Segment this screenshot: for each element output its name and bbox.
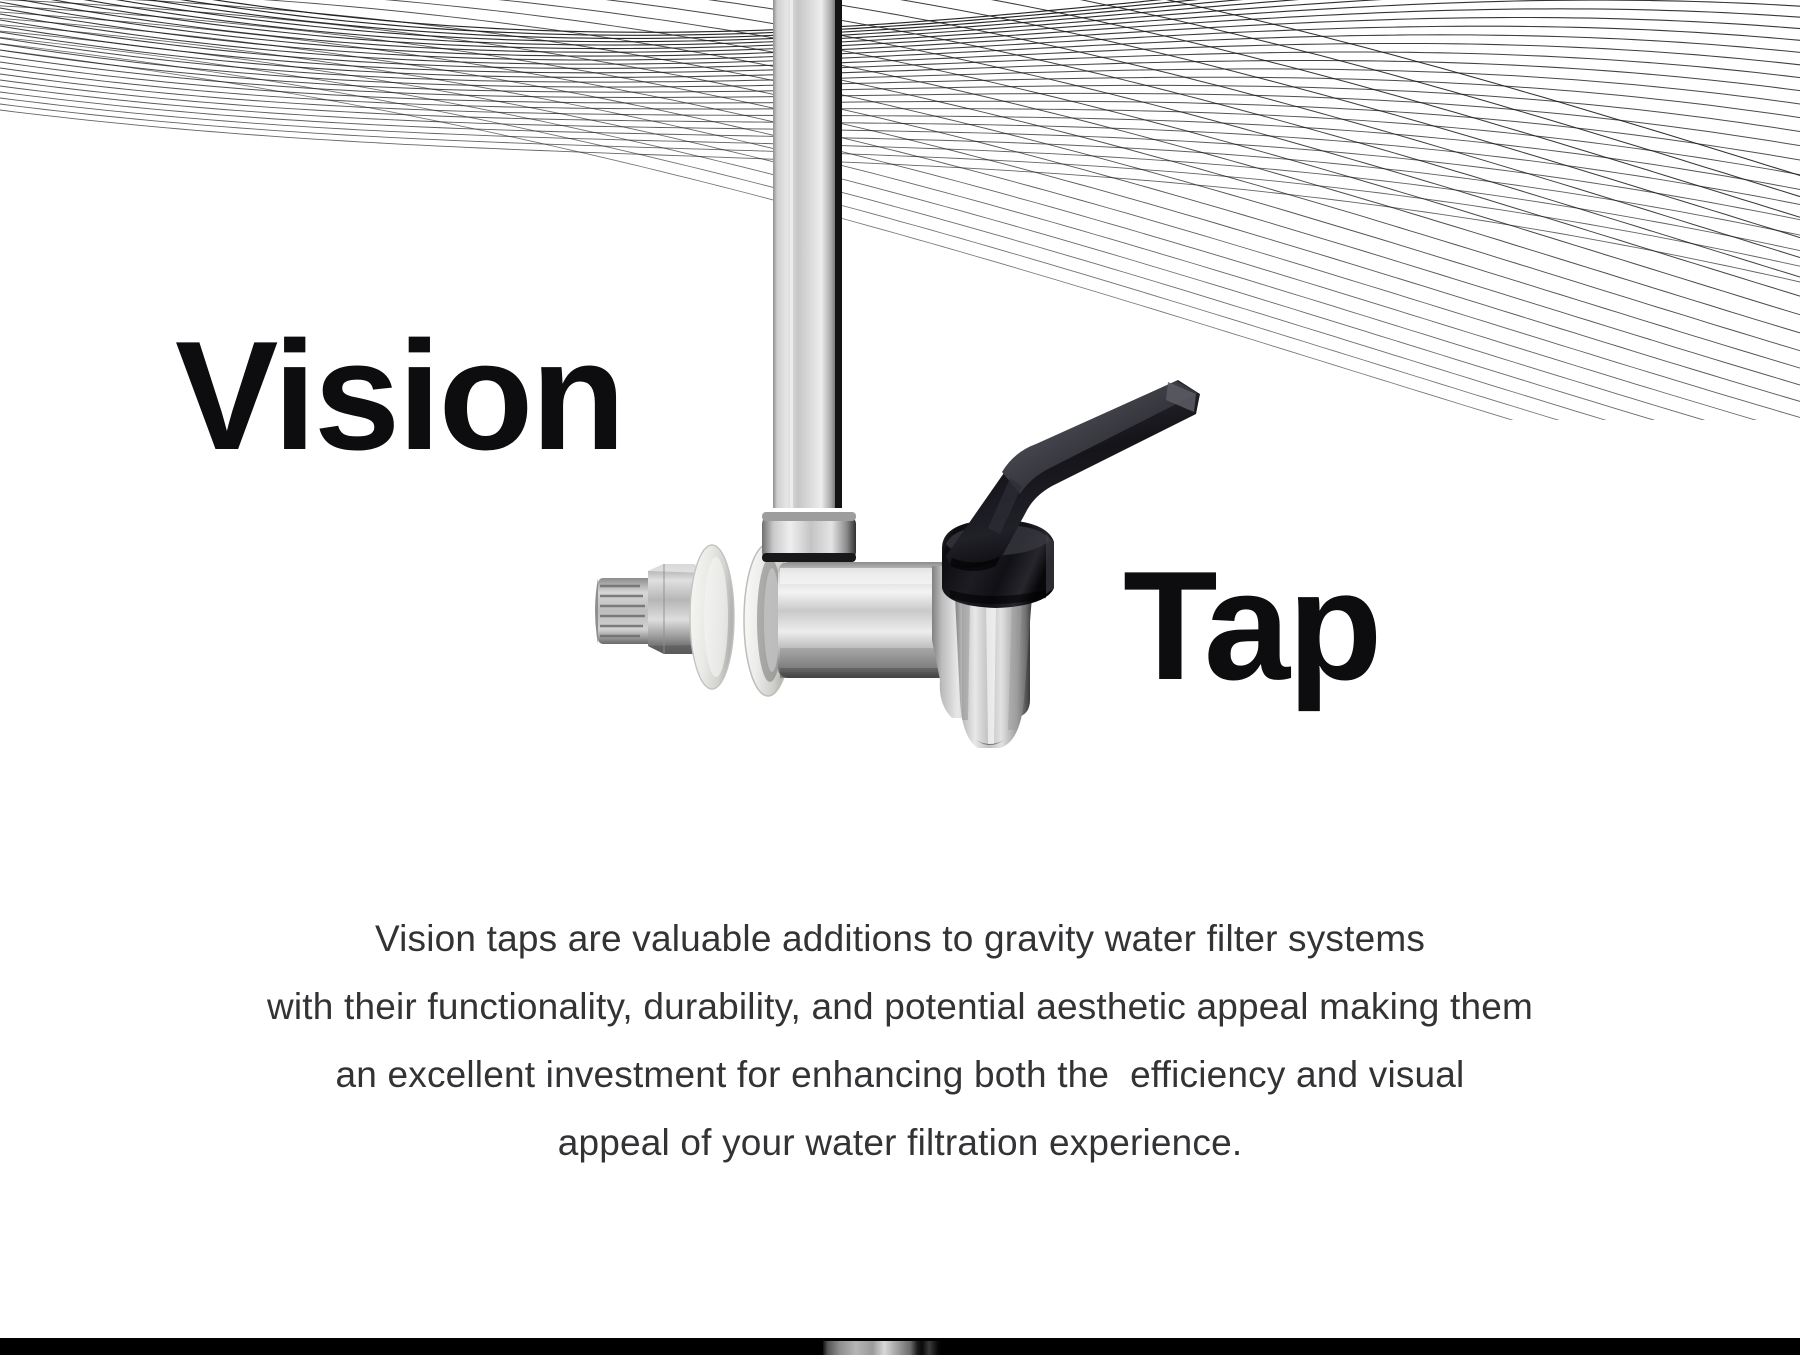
wave-line — [0, 0, 1800, 45]
description-line-3: an excellent investment for enhancing bo… — [0, 1041, 1800, 1109]
wave-line — [0, 0, 1800, 333]
wave-line — [0, 32, 1800, 91]
description-line-4: appeal of your water filtration experien… — [0, 1109, 1800, 1177]
tap-threaded-shank — [595, 578, 656, 644]
wave-line — [0, 98, 1800, 251]
tap-cap — [942, 520, 1054, 608]
wave-line — [0, 0, 1800, 315]
wave-line — [0, 92, 1800, 235]
wave-line — [0, 0, 1800, 197]
wave-line — [0, 2, 1800, 56]
wave-line — [0, 50, 1800, 132]
tap-washer-rear — [690, 545, 734, 689]
wave-line — [0, 44, 1800, 118]
wave-line — [0, 0, 1800, 217]
wave-line — [0, 110, 1800, 282]
wave-line — [0, 0, 1800, 296]
tap-washer-front — [744, 544, 792, 696]
description-line-2: with their functionality, durability, an… — [0, 973, 1800, 1041]
wave-line — [0, 0, 1800, 52]
headline-vision: Vision — [175, 318, 623, 473]
wave-line — [0, 0, 1800, 32]
wave-line — [0, 0, 1800, 42]
wave-line — [0, 74, 1800, 190]
wave-line — [0, 0, 1800, 351]
wave-line — [0, 68, 1800, 175]
tap-spout-junction — [932, 566, 1030, 718]
wave-line — [0, 0, 1800, 175]
wave-line — [0, 26, 1800, 78]
wave-line — [0, 8, 1800, 60]
wave-line — [0, 0, 1800, 38]
wave-line — [0, 20, 1800, 68]
headline-tap: Tap — [1123, 548, 1380, 703]
description-paragraph: Vision taps are valuable additions to gr… — [0, 905, 1800, 1177]
tap-riser-pipe — [773, 0, 842, 508]
wave-line — [0, 80, 1800, 205]
tap-spout — [955, 596, 1032, 748]
wave-line — [0, 86, 1800, 220]
tap-hex-nut — [648, 564, 704, 654]
wave-line — [0, 38, 1800, 104]
wave-line — [0, 0, 1800, 238]
wave-line — [0, 14, 1800, 64]
tap-collar — [762, 512, 856, 562]
wave-line — [0, 62, 1800, 160]
wave-line — [0, 0, 1800, 35]
wave-line — [0, 0, 1800, 257]
tap-body — [778, 562, 1020, 700]
wave-line — [0, 0, 1800, 49]
wave-line — [0, 56, 1800, 146]
footer-tap-sliver — [823, 1341, 941, 1355]
wave-line — [0, 0, 1800, 277]
wave-line — [0, 104, 1800, 266]
description-line-1: Vision taps are valuable additions to gr… — [0, 905, 1800, 973]
slide-canvas: Vision Tap — [0, 0, 1800, 1355]
